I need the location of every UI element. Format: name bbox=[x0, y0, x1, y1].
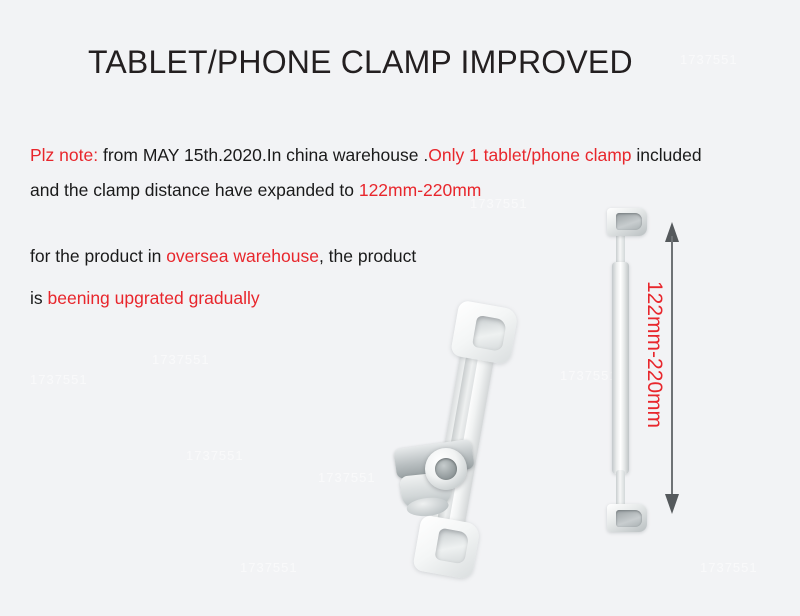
notice-line-2: and the clamp distance have expanded to … bbox=[30, 180, 481, 202]
notice-is-text: is bbox=[30, 288, 48, 308]
notice-line-4: is beening upgrated gradually bbox=[30, 288, 260, 310]
rod-hook-bottom bbox=[607, 504, 647, 532]
notice-included-text: included bbox=[632, 145, 702, 165]
notice-upgrade-highlight: beening upgrated gradually bbox=[48, 288, 260, 308]
arrow-down-icon bbox=[665, 494, 679, 514]
watermark-text: 1737551 bbox=[700, 560, 758, 575]
watermark-text: 1737551 bbox=[680, 52, 738, 67]
page-title: TABLET/PHONE CLAMP IMPROVED bbox=[88, 44, 633, 81]
clamp-swivel-joint bbox=[395, 432, 487, 518]
notice-only-one-clamp-highlight: Only 1 tablet/phone clamp bbox=[428, 145, 631, 165]
swivel-knob bbox=[425, 448, 467, 490]
dimension-label: 122mm-220mm bbox=[642, 281, 666, 428]
notice-line-1: Plz note: from MAY 15th.2020.In china wa… bbox=[30, 145, 702, 167]
notice-oversea-suffix-text: , the product bbox=[319, 246, 416, 266]
dimension-line bbox=[671, 236, 673, 500]
clamp-jaw-bottom bbox=[412, 514, 481, 580]
watermark-text: 1737551 bbox=[186, 448, 244, 463]
rod-segment-middle bbox=[612, 262, 629, 474]
notice-line-3: for the product in oversea warehouse, th… bbox=[30, 246, 416, 268]
product-image-clamp bbox=[400, 300, 585, 580]
notice-plz-note-label: Plz note: bbox=[30, 145, 98, 165]
clamp-jaw-top bbox=[450, 300, 519, 366]
notice-clamp-distance-text: and the clamp distance have expanded to bbox=[30, 180, 359, 200]
notice-clamp-range-highlight: 122mm-220mm bbox=[359, 180, 482, 200]
notice-line-1-text: from MAY 15th.2020.In china warehouse . bbox=[98, 145, 428, 165]
notice-oversea-prefix-text: for the product in bbox=[30, 246, 166, 266]
watermark-text: 1737551 bbox=[30, 372, 88, 387]
watermark-text: 1737551 bbox=[152, 352, 210, 367]
product-info-banner: { "page": { "title": "TABLET/PHONE CLAMP… bbox=[0, 0, 800, 616]
watermark-text: 1737551 bbox=[318, 470, 376, 485]
rod-hook-top bbox=[607, 208, 647, 236]
watermark-text: 1737551 bbox=[240, 560, 298, 575]
notice-oversea-warehouse-highlight: oversea warehouse bbox=[166, 246, 319, 266]
